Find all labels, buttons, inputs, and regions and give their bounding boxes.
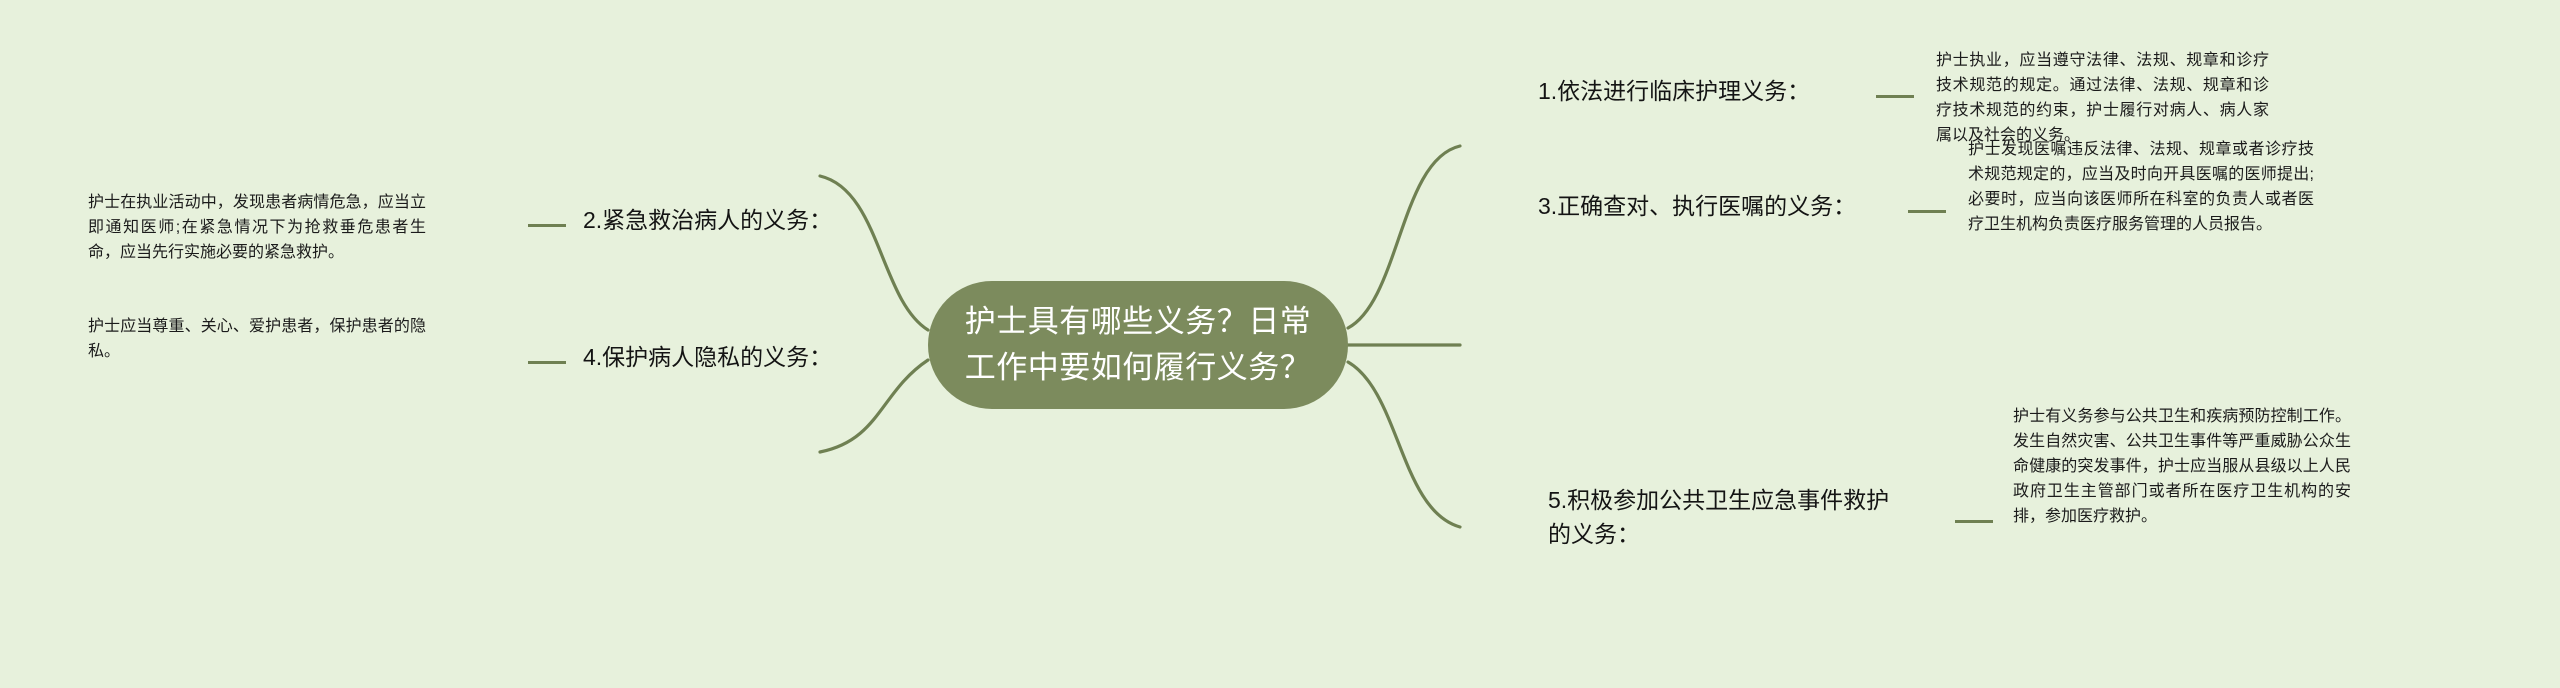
link-to-branch-1 — [1348, 146, 1460, 328]
detail-text-1: 护士执业，应当遵守法律、法规、规章和诊疗技术规范的规定。通过法律、法规、规章和诊… — [1936, 48, 2269, 148]
stub-branch-1 — [1876, 95, 1914, 98]
detail-text-2: 护士在执业活动中，发现患者病情危急，应当立即通知医师;在紧急情况下为抢救垂危患者… — [88, 190, 426, 265]
mindmap-canvas: 护士具有哪些义务？日常 工作中要如何履行义务？ 1.依法进行临床护理义务： 护士… — [0, 0, 2560, 688]
branch-label-1[interactable]: 1.依法进行临床护理义务： — [1538, 74, 1868, 108]
central-node-title: 护士具有哪些义务？日常 工作中要如何履行义务？ — [965, 299, 1312, 391]
stub-branch-2 — [528, 224, 566, 227]
link-to-branch-2 — [820, 176, 928, 330]
stub-branch-3 — [1908, 210, 1946, 213]
detail-text-3: 护士发现医嘱违反法律、法规、规章或者诊疗技术规范规定的，应当及时向开具医嘱的医师… — [1968, 137, 2314, 237]
detail-text-5: 护士有义务参与公共卫生和疾病预防控制工作。发生自然灾害、公共卫生事件等严重威胁公… — [2013, 404, 2351, 529]
link-to-branch-5 — [1348, 362, 1460, 527]
stub-branch-5 — [1955, 520, 1993, 523]
branch-label-5[interactable]: 5.积极参加公共卫生应急事件救护 的义务： — [1548, 483, 1908, 551]
detail-text-4: 护士应当尊重、关心、爱护患者，保护患者的隐私。 — [88, 314, 426, 364]
branch-label-2[interactable]: 2.紧急救治病人的义务： — [583, 203, 883, 237]
central-node[interactable]: 护士具有哪些义务？日常 工作中要如何履行义务？ — [928, 281, 1348, 409]
stub-branch-4 — [528, 361, 566, 364]
branch-label-4[interactable]: 4.保护病人隐私的义务： — [583, 340, 883, 374]
branch-label-3[interactable]: 3.正确查对、执行医嘱的义务： — [1538, 189, 1898, 223]
